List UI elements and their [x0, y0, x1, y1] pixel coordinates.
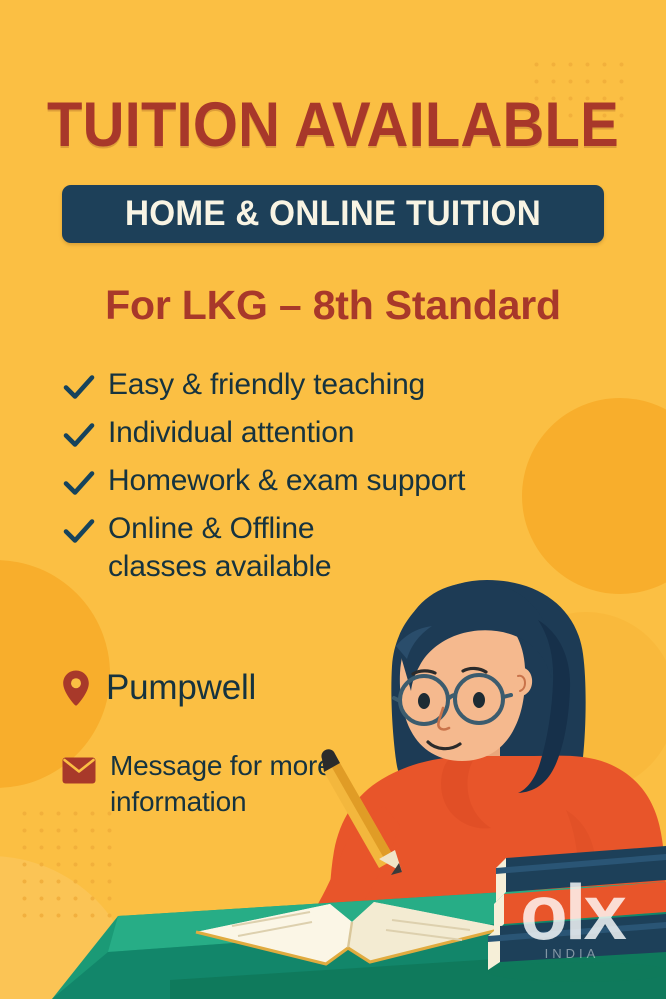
- check-icon: [62, 466, 96, 500]
- page-title: TUITION AVAILABLE: [27, 92, 640, 158]
- status-badge-label: HOME & ONLINE TUITION: [125, 194, 541, 234]
- list-item-label: Easy & friendly teaching: [108, 366, 425, 404]
- list-item: Easy & friendly teaching: [62, 366, 582, 404]
- check-icon: [62, 514, 96, 548]
- list-item: Homework & exam support: [62, 462, 582, 500]
- check-icon: [62, 418, 96, 452]
- status-badge: HOME & ONLINE TUITION: [62, 185, 604, 243]
- list-item-label: Individual attention: [108, 414, 354, 452]
- poster-canvas: TUITION AVAILABLE HOME & ONLINE TUITION …: [0, 0, 666, 999]
- list-item-label: Homework & exam support: [108, 462, 465, 500]
- subtitle: For LKG – 8th Standard: [0, 282, 666, 329]
- student-illustration: [0, 560, 666, 999]
- list-item: Individual attention: [62, 414, 582, 452]
- check-icon: [62, 370, 96, 404]
